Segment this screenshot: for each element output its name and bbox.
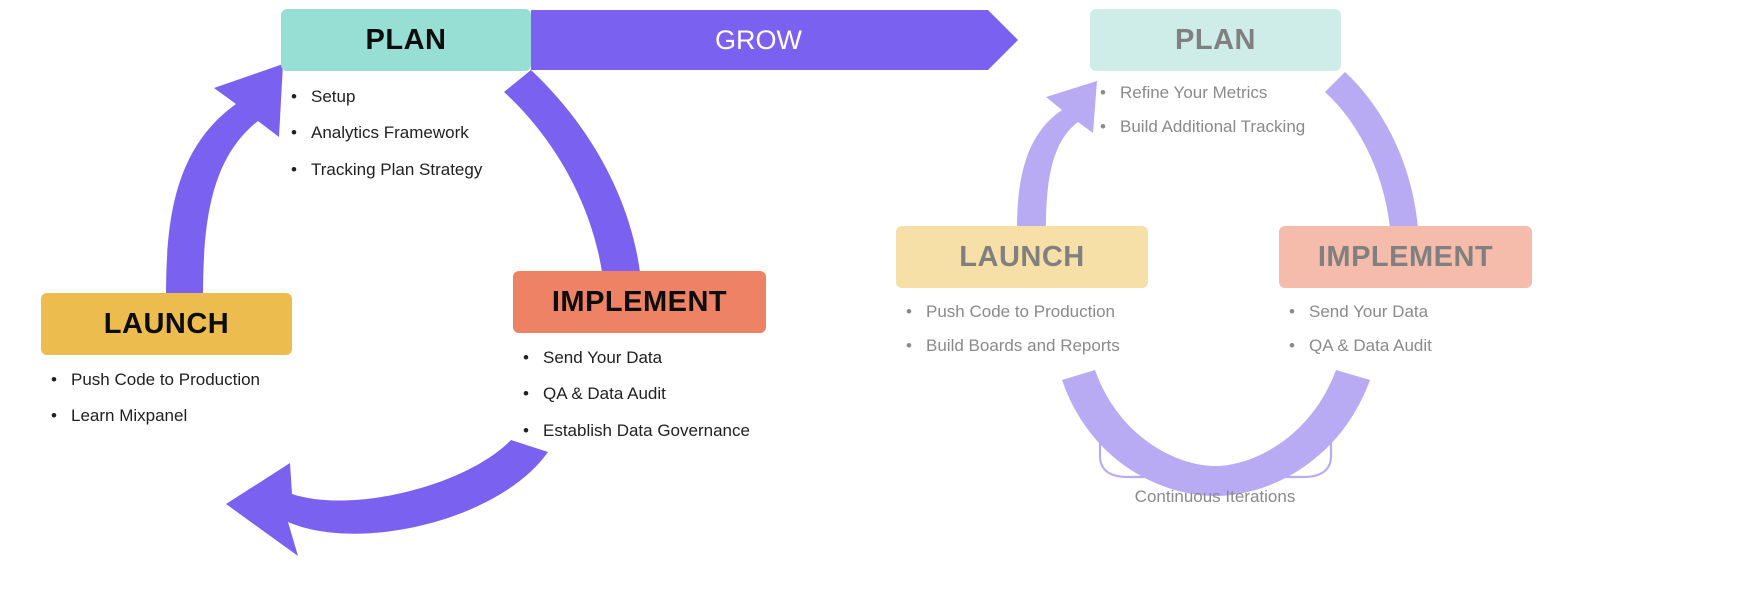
list-item: • Build Additional Tracking (1100, 117, 1341, 137)
arrow-launch-to-plan (166, 64, 283, 300)
bullet-text: Establish Data Governance (543, 421, 750, 441)
node-launch-active-bullets: • Push Code to Production • Learn Mixpan… (51, 370, 292, 427)
node-implement-active-title: IMPLEMENT (513, 271, 766, 333)
bullet-text: Send Your Data (543, 348, 662, 368)
bullet-text: Push Code to Production (926, 302, 1115, 322)
list-item: • Setup (291, 87, 531, 107)
list-item: • Refine Your Metrics (1100, 83, 1341, 103)
bullet-icon: • (291, 87, 311, 107)
diagram-canvas: GROW PLAN • Setup • Analytics Framework … (0, 0, 1740, 589)
grow-banner-label: GROW (531, 10, 986, 70)
list-item: • Tracking Plan Strategy (291, 160, 531, 180)
bullet-text: Learn Mixpanel (71, 406, 187, 426)
bullet-icon: • (523, 348, 543, 368)
node-plan-active-bullets: • Setup • Analytics Framework • Tracking… (291, 87, 531, 180)
bullet-icon: • (1289, 302, 1309, 322)
bullet-icon: • (1100, 117, 1120, 137)
bullet-text: Setup (311, 87, 355, 107)
bullet-text: Analytics Framework (311, 123, 469, 143)
list-item: • Send Your Data (1289, 302, 1532, 322)
bullet-text: QA & Data Audit (1309, 336, 1432, 356)
bullet-icon: • (51, 370, 71, 390)
continuous-iterations-label: Continuous Iterations (1075, 487, 1355, 507)
node-plan-faded-title: PLAN (1090, 9, 1341, 71)
bullet-text: Build Boards and Reports (926, 336, 1120, 356)
arrow-implement-to-launch (226, 440, 548, 556)
list-item: • Establish Data Governance (523, 421, 766, 441)
list-item: • Push Code to Production (906, 302, 1148, 322)
node-launch-active[interactable]: LAUNCH • Push Code to Production • Learn… (41, 293, 292, 443)
bullet-text: Tracking Plan Strategy (311, 160, 482, 180)
bullet-text: QA & Data Audit (543, 384, 666, 404)
arrow-launch-to-plan-faded (1017, 81, 1097, 230)
bullet-icon: • (906, 302, 926, 322)
bullet-text: Build Additional Tracking (1120, 117, 1305, 137)
bullet-text: Push Code to Production (71, 370, 260, 390)
node-implement-faded-title: IMPLEMENT (1279, 226, 1532, 288)
bullet-icon: • (51, 406, 71, 426)
list-item: • Send Your Data (523, 348, 766, 368)
list-item: • Analytics Framework (291, 123, 531, 143)
node-launch-active-title: LAUNCH (41, 293, 292, 355)
node-implement-faded-bullets: • Send Your Data • QA & Data Audit (1289, 302, 1532, 357)
bullet-text: Send Your Data (1309, 302, 1428, 322)
bullet-text: Refine Your Metrics (1120, 83, 1267, 103)
list-item: • Learn Mixpanel (51, 406, 292, 426)
bullet-icon: • (523, 384, 543, 404)
node-plan-faded[interactable]: PLAN • Refine Your Metrics • Build Addit… (1090, 9, 1341, 152)
list-item: • Build Boards and Reports (906, 336, 1148, 356)
grow-banner: GROW (531, 10, 1018, 70)
node-implement-faded[interactable]: IMPLEMENT • Send Your Data • QA & Data A… (1279, 226, 1532, 371)
node-implement-active-bullets: • Send Your Data • QA & Data Audit • Est… (523, 348, 766, 441)
bullet-icon: • (291, 123, 311, 143)
node-implement-active[interactable]: IMPLEMENT • Send Your Data • QA & Data A… (513, 271, 766, 457)
node-plan-faded-bullets: • Refine Your Metrics • Build Additional… (1100, 83, 1341, 138)
list-item: • Push Code to Production (51, 370, 292, 390)
continuous-iterations-brace (1100, 437, 1331, 490)
list-item: • QA & Data Audit (523, 384, 766, 404)
node-plan-active-title: PLAN (281, 9, 531, 71)
bullet-icon: • (1100, 83, 1120, 103)
bullet-icon: • (1289, 336, 1309, 356)
node-launch-faded-bullets: • Push Code to Production • Build Boards… (906, 302, 1148, 357)
node-launch-faded-title: LAUNCH (896, 226, 1148, 288)
bullet-icon: • (523, 421, 543, 441)
node-launch-faded[interactable]: LAUNCH • Push Code to Production • Build… (896, 226, 1148, 371)
node-plan-active[interactable]: PLAN • Setup • Analytics Framework • Tra… (281, 9, 531, 196)
bullet-icon: • (291, 160, 311, 180)
arrow-bottom-arc-faded (1062, 370, 1370, 496)
bullet-icon: • (906, 336, 926, 356)
list-item: • QA & Data Audit (1289, 336, 1532, 356)
